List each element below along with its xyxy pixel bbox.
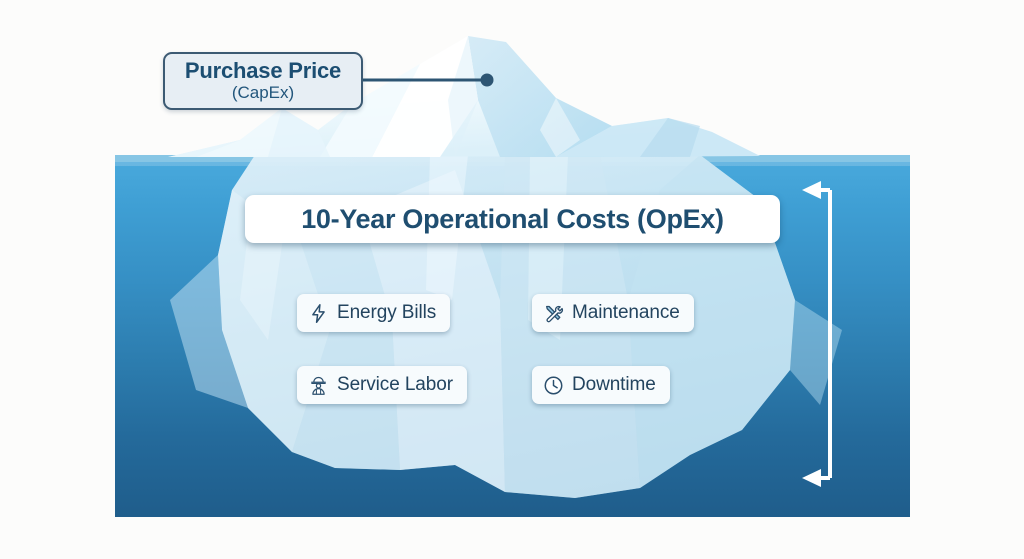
cost-chip-label: Service Labor: [337, 374, 453, 396]
hammer-and-wrench-icon: [543, 303, 564, 324]
cost-chip-label: Downtime: [572, 374, 656, 396]
opex-banner-title: 10-Year Operational Costs (OpEx): [301, 204, 724, 235]
opex-banner[interactable]: 10-Year Operational Costs (OpEx): [245, 195, 780, 243]
construction-worker-icon: [308, 375, 329, 396]
purchase-price-callout[interactable]: Purchase Price (CapEx): [163, 52, 363, 110]
iceberg-artwork: [0, 0, 1024, 559]
arrowhead-top: [802, 181, 821, 199]
cost-chip-label: Energy Bills: [337, 302, 436, 324]
arrowhead-bottom: [802, 469, 821, 487]
clock-icon: [543, 375, 564, 396]
leader-dot: [481, 74, 494, 87]
callout-title: Purchase Price: [185, 59, 341, 82]
iceberg-infographic: Purchase Price (CapEx) 10-Year Operation…: [0, 0, 1024, 559]
cost-chip-downtime[interactable]: Downtime: [532, 366, 670, 404]
cost-chip-service-labor[interactable]: Service Labor: [297, 366, 467, 404]
cost-chip-label: Maintenance: [572, 302, 680, 324]
callout-subtitle: (CapEx): [232, 83, 294, 103]
cost-chip-maintenance[interactable]: Maintenance: [532, 294, 694, 332]
cost-chip-energy-bills[interactable]: Energy Bills: [297, 294, 450, 332]
lightning-bolt-icon: [308, 303, 329, 324]
